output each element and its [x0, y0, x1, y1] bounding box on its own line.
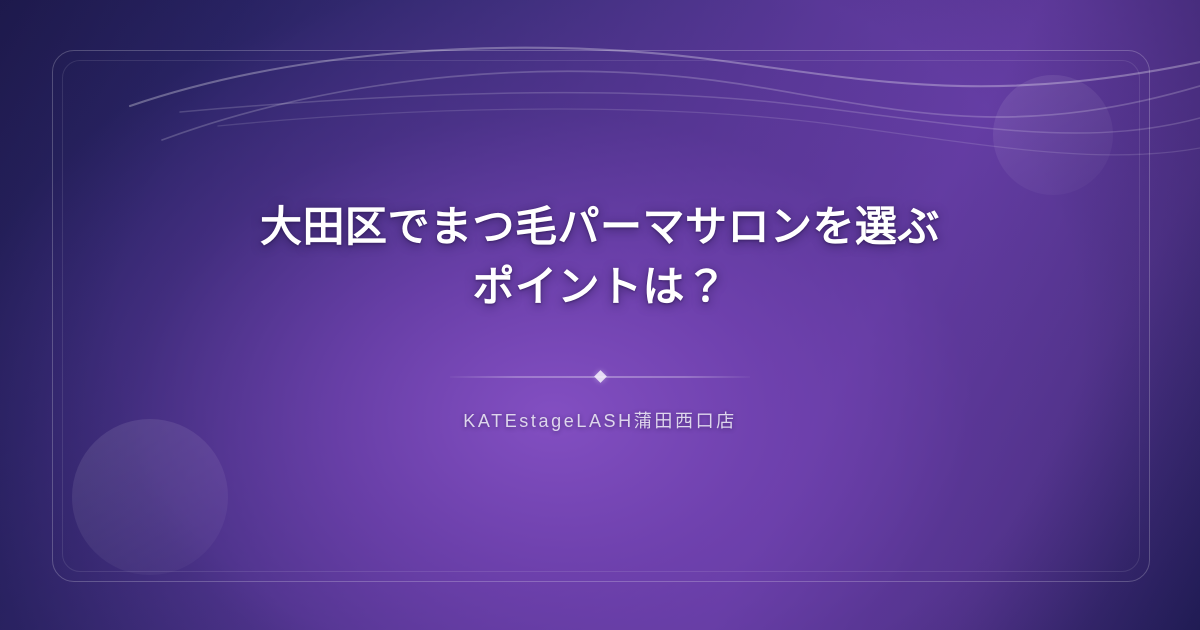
diamond-icon: [594, 370, 607, 383]
card-content: 大田区でまつ毛パーマサロンを選ぶ ポイントは？ KATEstageLASH蒲田西…: [0, 0, 1200, 630]
divider: [450, 369, 750, 385]
page-title: 大田区でまつ毛パーマサロンを選ぶ ポイントは？: [260, 197, 940, 316]
og-card: 大田区でまつ毛パーマサロンを選ぶ ポイントは？ KATEstageLASH蒲田西…: [0, 0, 1200, 630]
site-name-subtitle: KATEstageLASH蒲田西口店: [463, 407, 737, 433]
page-title-line-1: 大田区でまつ毛パーマサロンを選ぶ: [260, 203, 940, 250]
page-title-line-2: ポイントは？: [472, 263, 727, 310]
